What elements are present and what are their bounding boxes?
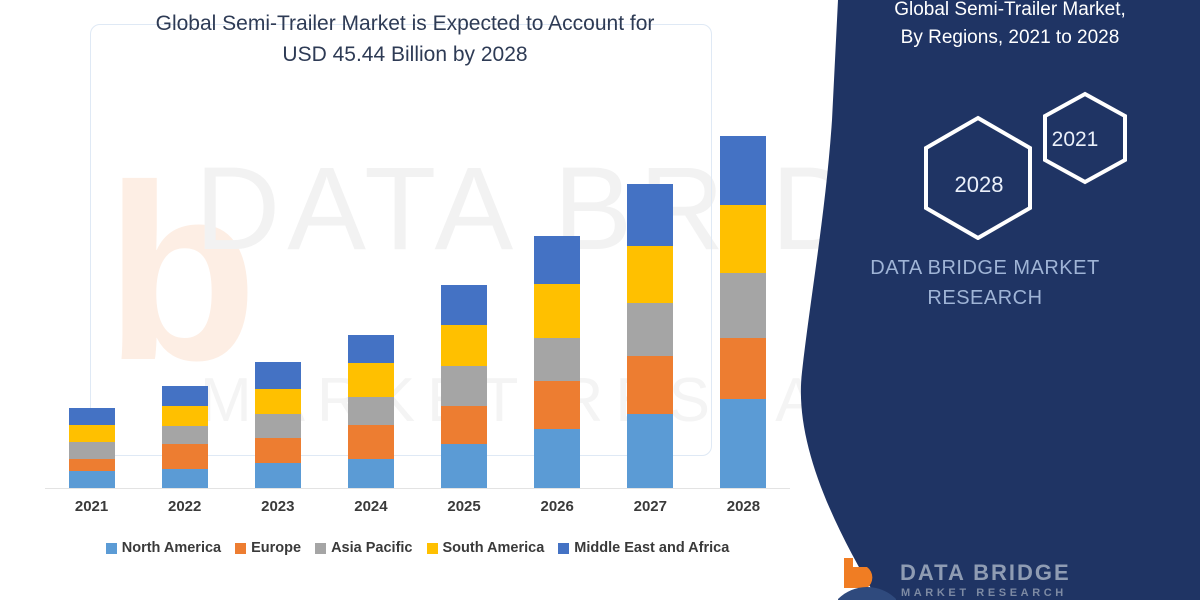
bar-segment bbox=[534, 284, 580, 338]
bar-segment bbox=[441, 285, 487, 325]
bar-segment bbox=[627, 246, 673, 303]
infographic-canvas: b DATA BRIDGE MARKET RESEARCH Global Sem… bbox=[0, 0, 1200, 600]
brand-name-line-1: DATA BRIDGE MARKET bbox=[870, 257, 1099, 279]
bar-segment bbox=[255, 362, 301, 389]
x-tick-2025: 2025 bbox=[419, 498, 509, 515]
bar-segment bbox=[348, 335, 394, 363]
legend-item[interactable]: North America bbox=[106, 540, 221, 556]
legend-label: Middle East and Africa bbox=[574, 540, 729, 556]
x-axis-line bbox=[45, 488, 790, 489]
brand-name-line-2: RESEARCH bbox=[927, 287, 1042, 309]
stacked-bar bbox=[348, 335, 394, 488]
legend-label: North America bbox=[122, 540, 221, 556]
hexagon-group: 2028 2021 bbox=[910, 80, 1200, 240]
stacked-bar bbox=[534, 236, 580, 488]
bar-segment bbox=[627, 356, 673, 414]
x-axis-tick-labels: 20212022202320242025202620272028 bbox=[45, 498, 790, 515]
bar-segment bbox=[69, 442, 115, 458]
hexagon-shapes bbox=[910, 80, 1200, 240]
bar-segment bbox=[534, 429, 580, 488]
bar-segment bbox=[348, 459, 394, 488]
bar-segment bbox=[627, 184, 673, 246]
bar-column-2024 bbox=[326, 120, 416, 488]
x-tick-2023: 2023 bbox=[233, 498, 323, 515]
legend-label: South America bbox=[443, 540, 545, 556]
brand-title-line-2: By Regions, 2021 to 2028 bbox=[901, 27, 1120, 48]
legend-swatch-icon bbox=[558, 543, 569, 554]
brand-panel-content: Global Semi-Trailer Market, By Regions, … bbox=[760, 0, 1200, 600]
chart-title-line-1: Global Semi-Trailer Market is Expected t… bbox=[156, 12, 655, 35]
bar-segment bbox=[441, 325, 487, 365]
bar-segment bbox=[69, 425, 115, 442]
x-tick-2027: 2027 bbox=[605, 498, 695, 515]
legend-item[interactable]: Middle East and Africa bbox=[558, 540, 729, 556]
bar-segment bbox=[255, 463, 301, 488]
x-tick-2021: 2021 bbox=[47, 498, 137, 515]
bridge-logo-icon bbox=[838, 558, 896, 600]
chart-title-line-2: USD 45.44 Billion by 2028 bbox=[60, 39, 750, 70]
bar-segment bbox=[69, 459, 115, 471]
bar-segment bbox=[162, 386, 208, 406]
stacked-bar bbox=[69, 408, 115, 488]
legend-label: Europe bbox=[251, 540, 301, 556]
bar-segment bbox=[348, 425, 394, 458]
hexagon-2028-label: 2028 bbox=[920, 172, 1038, 198]
bar-column-2026 bbox=[512, 120, 602, 488]
chart-legend: North AmericaEuropeAsia PacificSouth Ame… bbox=[45, 540, 790, 556]
brand-title-line-1: Global Semi-Trailer Market, bbox=[894, 0, 1126, 20]
legend-swatch-icon bbox=[106, 543, 117, 554]
bar-segment bbox=[441, 444, 487, 488]
stacked-bar bbox=[162, 386, 208, 488]
brand-panel-title: Global Semi-Trailer Market, By Regions, … bbox=[830, 0, 1190, 52]
stacked-bar bbox=[255, 362, 301, 488]
company-logo-text: DATA BRIDGE bbox=[900, 560, 1071, 586]
chart-panel: b DATA BRIDGE MARKET RESEARCH Global Sem… bbox=[0, 0, 860, 600]
brand-name: DATA BRIDGE MARKET RESEARCH bbox=[820, 253, 1150, 313]
bar-column-2023 bbox=[233, 120, 323, 488]
bar-segment bbox=[627, 303, 673, 356]
bar-segment bbox=[441, 406, 487, 444]
bar-segment bbox=[162, 406, 208, 426]
bar-column-2022 bbox=[140, 120, 230, 488]
x-tick-2026: 2026 bbox=[512, 498, 602, 515]
bar-segment bbox=[534, 236, 580, 283]
company-logo: DATA BRIDGE MARKET RESEARCH bbox=[838, 558, 1188, 600]
hexagon-2021-label: 2021 bbox=[1020, 128, 1130, 152]
bar-segment bbox=[348, 363, 394, 397]
bar-segment bbox=[69, 471, 115, 488]
legend-swatch-icon bbox=[235, 543, 246, 554]
bar-segment bbox=[162, 426, 208, 444]
legend-item[interactable]: Europe bbox=[235, 540, 301, 556]
bar-segment bbox=[255, 389, 301, 414]
bar-column-2025 bbox=[419, 120, 509, 488]
brand-panel: Global Semi-Trailer Market, By Regions, … bbox=[760, 0, 1200, 600]
stacked-bar-plot bbox=[45, 120, 790, 488]
legend-label: Asia Pacific bbox=[331, 540, 412, 556]
x-tick-2022: 2022 bbox=[140, 498, 230, 515]
bar-segment bbox=[534, 381, 580, 429]
x-tick-2024: 2024 bbox=[326, 498, 416, 515]
bar-segment bbox=[255, 438, 301, 463]
bar-segment bbox=[162, 444, 208, 469]
stacked-bar bbox=[441, 285, 487, 488]
page-title: Global Semi-Trailer Market is Expected t… bbox=[60, 8, 750, 70]
legend-item[interactable]: Asia Pacific bbox=[315, 540, 412, 556]
bar-column-2021 bbox=[47, 120, 137, 488]
bar-segment bbox=[441, 366, 487, 406]
bar-segment bbox=[534, 338, 580, 381]
bar-column-2027 bbox=[605, 120, 695, 488]
legend-swatch-icon bbox=[427, 543, 438, 554]
bar-segment bbox=[69, 408, 115, 425]
bar-segment bbox=[348, 397, 394, 425]
legend-swatch-icon bbox=[315, 543, 326, 554]
bar-segment bbox=[255, 414, 301, 439]
company-logo-subtext: MARKET RESEARCH bbox=[901, 587, 1067, 599]
stacked-bar bbox=[627, 184, 673, 488]
bar-segment bbox=[627, 414, 673, 488]
legend-item[interactable]: South America bbox=[427, 540, 545, 556]
bar-segment bbox=[162, 469, 208, 488]
